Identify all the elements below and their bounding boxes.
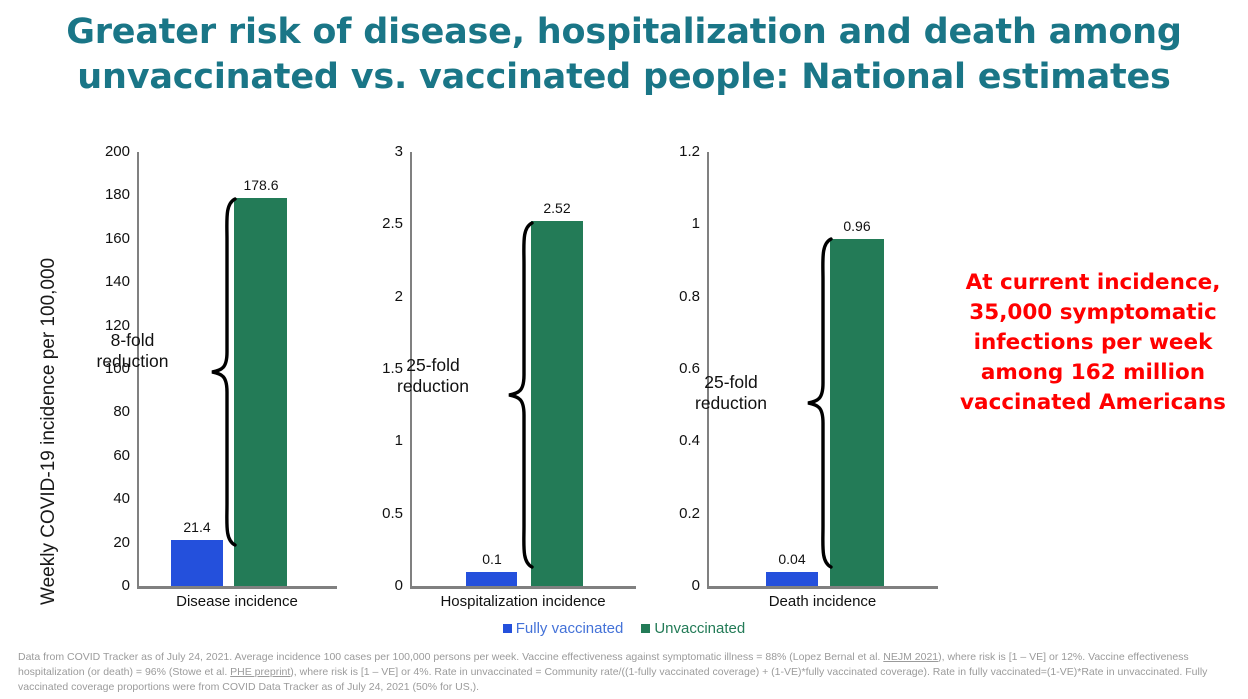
fold-reduction-label: 25-fold reduction (362, 355, 504, 397)
y-axis-tick-label: 0.2 (640, 506, 700, 521)
y-axis-tick-label: 2.5 (360, 216, 403, 231)
page-title: Greater risk of disease, hospitalization… (0, 10, 1248, 100)
bar-value-unvaccinated: 0.96 (821, 218, 893, 234)
footnote-link-phe[interactable]: PHE preprint (230, 666, 290, 678)
callout-line-4: among 162 million (945, 358, 1241, 388)
y-axis-tick-label: 0 (0, 578, 130, 593)
fold-reduction-line-2: reduction (695, 393, 767, 413)
bar-unvaccinated[interactable] (234, 198, 287, 586)
x-axis-line (137, 586, 337, 589)
legend-item-fully-vaccinated[interactable]: Fully vaccinated (503, 620, 624, 637)
chart-panel-death-incidence: 1.210.80.60.40.20 0.04 0.96 25-fold redu… (640, 140, 940, 610)
x-axis-category-label: Disease incidence (137, 593, 337, 610)
x-axis-category-label: Death incidence (707, 593, 938, 610)
bar-value-unvaccinated: 178.6 (225, 177, 297, 193)
y-axis-tick-label: 160 (0, 231, 130, 246)
bar-unvaccinated[interactable] (531, 221, 583, 586)
y-axis-tick-label: 0 (360, 578, 403, 593)
y-axis-tick-label: 180 (0, 187, 130, 202)
fold-reduction-line-1: 25-fold (406, 355, 460, 375)
fold-reduction-label: 8-fold reduction (60, 330, 205, 372)
chart-legend: Fully vaccinated Unvaccinated (0, 620, 1248, 637)
y-axis-tick-label: 2 (360, 289, 403, 304)
y-axis-tick-label: 3 (360, 144, 403, 159)
footnote-part-1: Data from COVID Tracker as of July 24, 2… (18, 651, 883, 663)
bar-unvaccinated[interactable] (830, 239, 884, 586)
y-axis-tick-label: 80 (0, 404, 130, 419)
y-axis-line (707, 152, 709, 588)
footnote: Data from COVID Tracker as of July 24, 2… (18, 650, 1234, 695)
y-axis-tick-label: 1 (640, 216, 700, 231)
callout-line-2: 35,000 symptomatic (945, 298, 1241, 328)
bar-value-unvaccinated: 2.52 (521, 200, 593, 216)
y-axis-tick-label: 1 (360, 433, 403, 448)
x-axis-line (707, 586, 938, 589)
callout-line-3: infections per week (945, 328, 1241, 358)
legend-item-unvaccinated[interactable]: Unvaccinated (641, 620, 745, 637)
fold-reduction-line-1: 8-fold (111, 330, 155, 350)
chart-panel-hospitalization-incidence: 32.521.510.50 0.1 2.52 25-fold reduction… (360, 140, 650, 610)
y-axis-tick-label: 140 (0, 274, 130, 289)
fold-reduction-brace (206, 196, 238, 548)
y-axis-tick-label: 60 (0, 448, 130, 463)
x-axis-category-label: Hospitalization incidence (410, 593, 636, 610)
legend-swatch-icon (641, 624, 650, 633)
bar-fully-vaccinated[interactable] (466, 572, 517, 586)
x-axis-line (410, 586, 636, 589)
callout-text: At current incidence, 35,000 symptomatic… (945, 268, 1241, 418)
y-axis-tick-label: 200 (0, 144, 130, 159)
legend-swatch-icon (503, 624, 512, 633)
y-axis-tick-label: 20 (0, 535, 130, 550)
y-axis-tick-label: 40 (0, 491, 130, 506)
y-axis-tick-label: 0.4 (640, 433, 700, 448)
footnote-link-nejm[interactable]: NEJM 2021 (883, 651, 938, 663)
page-title-line-1: Greater risk of disease, hospitalization… (0, 10, 1248, 55)
y-axis-tick-label: 0 (640, 578, 700, 593)
fold-reduction-line-1: 25-fold (704, 372, 758, 392)
chart-panel-disease-incidence: 200180160140120100806040200 21.4 178.6 8… (0, 140, 345, 610)
page-title-line-2: unvaccinated vs. vaccinated people: Nati… (0, 55, 1248, 100)
bar-fully-vaccinated[interactable] (766, 572, 818, 586)
fold-reduction-brace (802, 236, 834, 570)
fold-reduction-line-2: reduction (397, 376, 469, 396)
legend-label: Fully vaccinated (516, 620, 624, 637)
fold-reduction-label: 25-fold reduction (660, 372, 802, 414)
y-axis-tick-label: 1.2 (640, 144, 700, 159)
y-axis-tick-label: 0.5 (360, 506, 403, 521)
legend-label: Unvaccinated (654, 620, 745, 637)
callout-line-5: vaccinated Americans (945, 388, 1241, 418)
fold-reduction-brace (503, 220, 535, 570)
fold-reduction-line-2: reduction (97, 351, 169, 371)
callout-line-1: At current incidence, (945, 268, 1241, 298)
y-axis-tick-label: 0.8 (640, 289, 700, 304)
